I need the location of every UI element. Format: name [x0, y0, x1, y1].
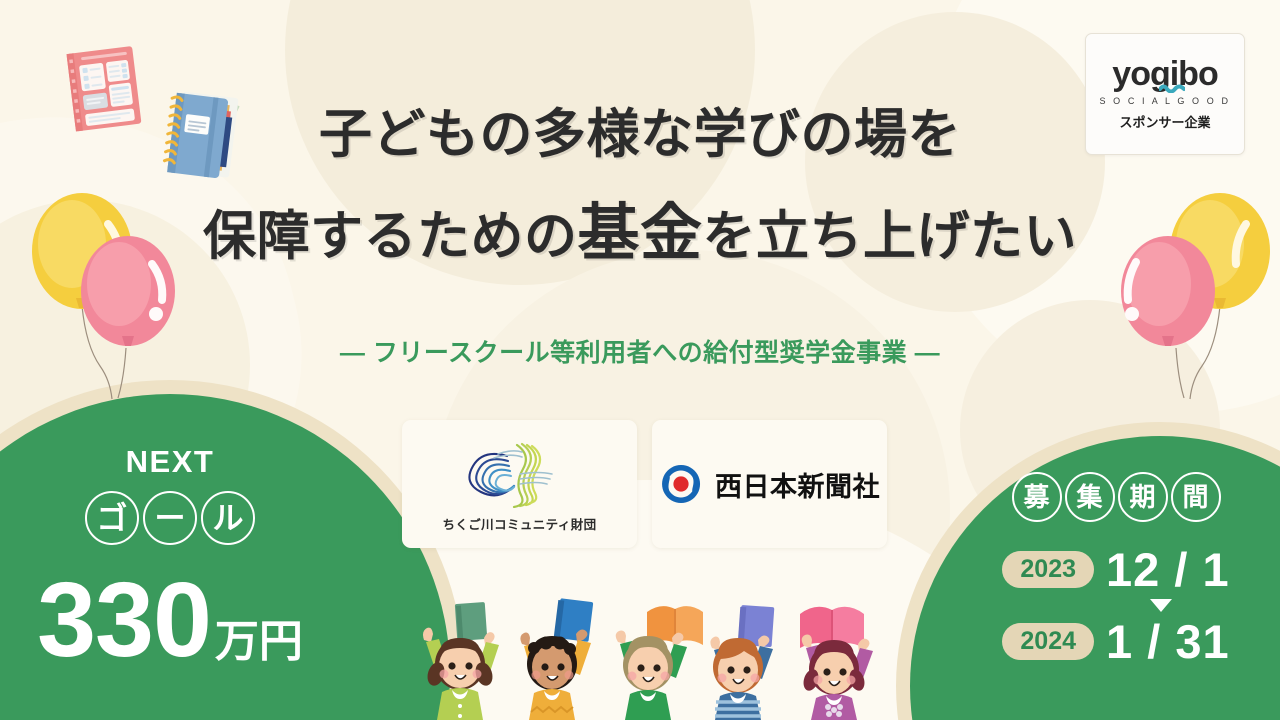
goal-char-1: ゴ [85, 491, 139, 545]
next-goal-block: NEXT ゴ ー ル 330 万円 [0, 394, 340, 720]
children-illustration [400, 598, 886, 720]
period-char-4: 間 [1171, 472, 1221, 522]
yogibo-squiggle-icon [1159, 84, 1185, 93]
period-arrow-icon [1150, 599, 1172, 612]
period-title-row: 募 集 期 間 [1012, 472, 1221, 522]
child-boy-striped-shirt [710, 605, 774, 720]
goal-amount: 330 万円 [37, 567, 303, 673]
goal-amount-number: 330 [37, 567, 211, 673]
period-end-date: 1 / 31 [1106, 618, 1230, 665]
nishinippon-mark-icon [659, 462, 703, 506]
goal-chars-row: ゴ ー ル [85, 491, 255, 545]
next-label: NEXT [126, 446, 215, 477]
headline-line-2: 保障するための基金を立ち上げたい [0, 203, 1280, 265]
period-start-date: 12 / 1 [1106, 546, 1230, 593]
partner-logo-cards: ちくご川コミュニティ財団 西日本新聞社 [402, 420, 887, 548]
period-char-2: 集 [1065, 472, 1115, 522]
period-char-3: 期 [1118, 472, 1168, 522]
period-end-year: 2024 [1002, 623, 1094, 660]
period-dates: 2023 12 / 1 2024 1 / 31 [1002, 546, 1229, 665]
headline-line-2-part-a: 保障するための [203, 207, 578, 266]
yogibo-logo: yogibo [1112, 57, 1217, 91]
application-period-block: 募 集 期 間 2023 12 / 1 2024 1 / 31 [952, 436, 1280, 720]
child-girl-green-shirt [423, 602, 499, 720]
period-char-1: 募 [1012, 472, 1062, 522]
child-girl-purple-shirt [800, 607, 873, 720]
partner-name-nishinippon: 西日本新聞社 [715, 465, 880, 504]
partner-name-chikugogawa: ちくご川コミュニティ財団 [442, 514, 596, 533]
nishinippon-logo-row: 西日本新聞社 [659, 462, 880, 506]
partner-card-chikugogawa[interactable]: ちくご川コミュニティ財団 [402, 420, 637, 548]
partner-card-nishinippon[interactable]: 西日本新聞社 [652, 420, 887, 548]
page-subtitle: — フリースクール等利用者への給付型奨学金事業 — [0, 333, 1280, 369]
period-start-year: 2023 [1002, 551, 1094, 588]
goal-char-3: ル [201, 491, 255, 545]
yogibo-tagline: S O C I A L G O O D [1099, 96, 1230, 106]
headline-emphasis-kikin: 基金 [577, 199, 702, 268]
period-end-row: 2024 1 / 31 [1002, 618, 1229, 665]
sponsor-label: スポンサー企業 [1119, 112, 1210, 131]
headline-line-2-part-c: を立ち上げたい [703, 207, 1078, 266]
child-boy-yellow-shirt [520, 598, 593, 720]
child-boy-green-shirt [616, 606, 703, 720]
campaign-banner: 子どもの多様な学びの場を 保障するための基金を立ち上げたい — フリースクール等… [0, 0, 1280, 720]
goal-char-2: ー [143, 491, 197, 545]
sponsor-card[interactable]: yogibo S O C I A L G O O D スポンサー企業 [1085, 33, 1245, 155]
period-start-row: 2023 12 / 1 [1002, 546, 1229, 593]
chikugogawa-logo-icon [458, 436, 582, 508]
goal-amount-unit: 万円 [215, 620, 303, 664]
